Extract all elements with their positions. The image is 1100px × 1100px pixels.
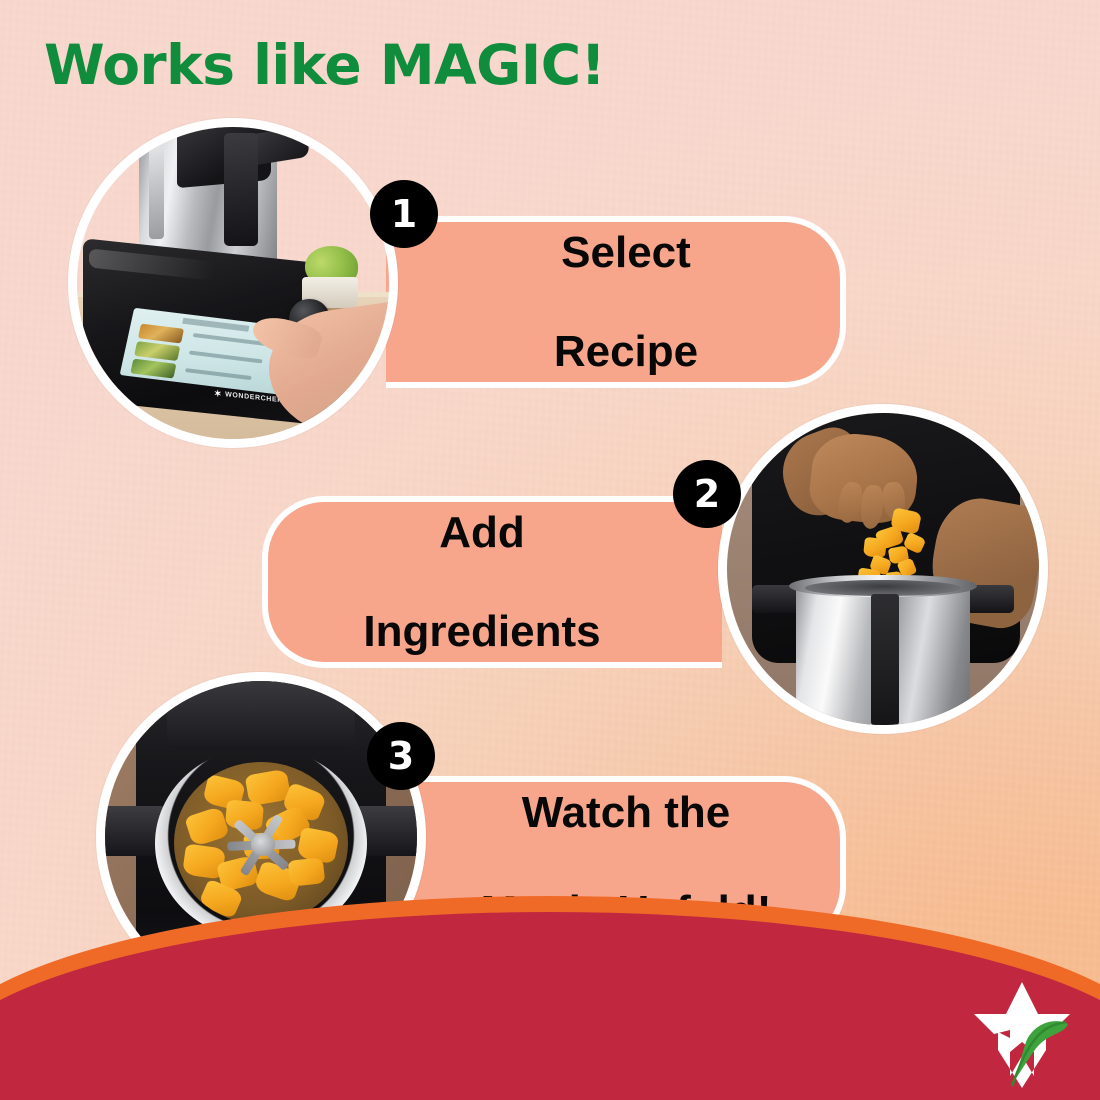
step-1-label-line-2: Recipe	[540, 327, 712, 376]
step-2-number-badge: 2	[673, 460, 741, 528]
step-2-photo-circle	[718, 404, 1048, 734]
step-2-label-line-1: Add	[349, 508, 614, 557]
step-1-number-badge: 1	[370, 180, 438, 248]
recipe-thumbnail[interactable]	[130, 359, 176, 379]
jar-side-handle	[149, 146, 165, 240]
jar-contents	[174, 762, 349, 924]
wonderchef-star-leaf-logo	[972, 980, 1072, 1090]
adding-mango-cubes-photo	[727, 413, 1039, 725]
lid-block	[167, 681, 354, 750]
poster-canvas: Works like MAGIC! Select Recipe Add Ingr…	[0, 0, 1100, 1100]
blade-hub	[251, 833, 275, 856]
recipe-title-line	[189, 351, 263, 364]
step-3-number-badge: 3	[367, 722, 435, 790]
step-3-label-line-1: Watch the	[467, 788, 786, 837]
mango-cube	[184, 806, 230, 847]
brand-star-icon: ✶	[214, 389, 222, 399]
touchscreen-recipe-selection-photo: ✶ WONDERCHEF	[77, 127, 389, 439]
step-2-label-pill: Add Ingredients	[262, 496, 722, 668]
screen-header-bar	[182, 318, 249, 331]
device-brand-text: WONDERCHEF	[225, 391, 282, 404]
step-2-label-line-2: Ingredients	[349, 607, 614, 656]
recipe-title-line	[185, 368, 252, 380]
recipe-thumbnail[interactable]	[134, 341, 180, 361]
step-1-label-pill: Select Recipe	[386, 216, 846, 388]
mango-cube	[288, 858, 325, 887]
star-w-icon	[974, 982, 1070, 1052]
jar-front-strip	[871, 594, 899, 725]
step-1-photo-circle: ✶ WONDERCHEF	[68, 118, 398, 448]
page-title: Works like MAGIC!	[44, 33, 605, 97]
step-1-label-line-1: Select	[540, 228, 712, 277]
jar-black-handle	[224, 133, 258, 245]
recipe-thumbnail[interactable]	[138, 324, 184, 344]
